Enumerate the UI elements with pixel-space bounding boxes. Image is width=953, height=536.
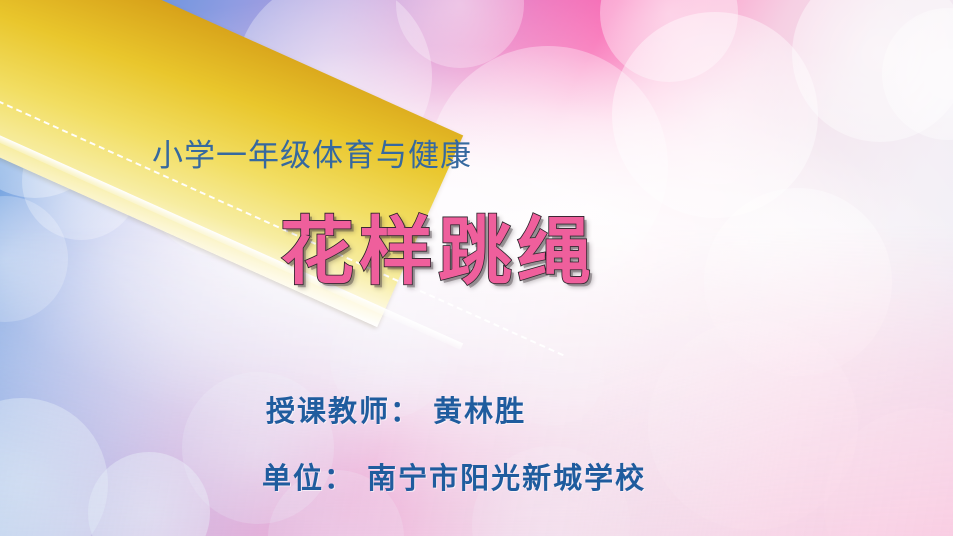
slide-main-title: 花样跳绳 [280,214,596,292]
presentation-slide: 小学一年级体育与健康 花样跳绳 授课教师： 黄林胜 单位： 南宁市阳光新城学校 [0,0,953,536]
affiliation-line: 单位： 南宁市阳光新城学校 [262,455,646,497]
slide-subtitle: 小学一年级体育与健康 [152,138,472,175]
presenter-line: 授课教师： 黄林胜 [266,388,526,430]
bokeh-circle [612,12,818,218]
